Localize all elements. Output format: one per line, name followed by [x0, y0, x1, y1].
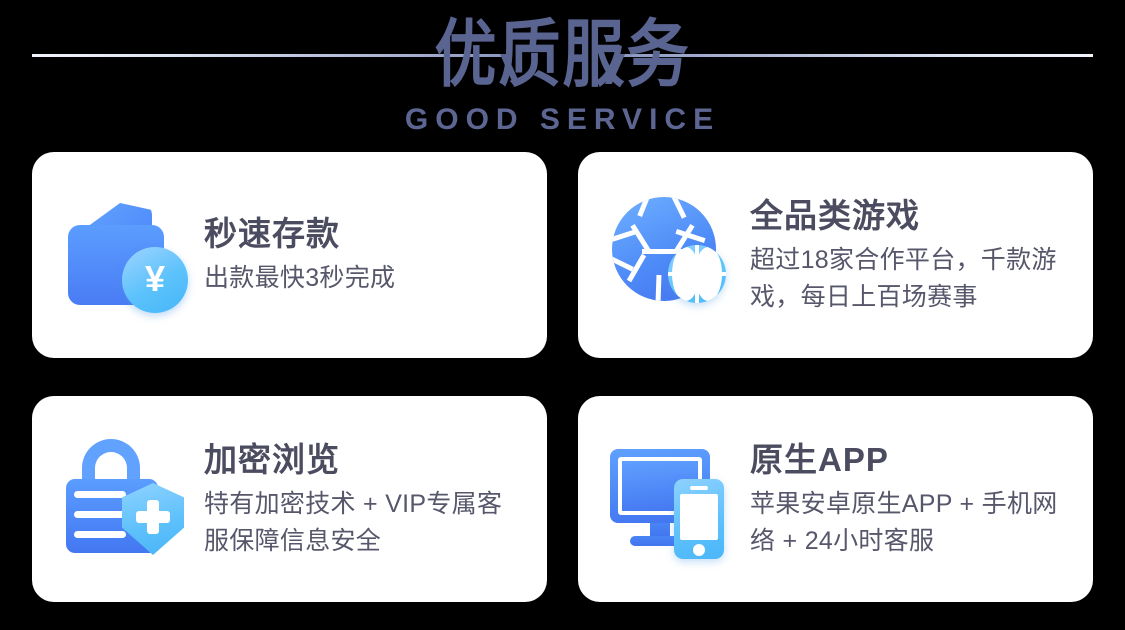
feature-card-native-app[interactable]: 原生APP 苹果安卓原生APP + 手机网络 + 24小时客服: [578, 396, 1093, 602]
feature-card-deposit[interactable]: ¥ 秒速存款 出款最快3秒完成: [32, 152, 547, 358]
smartphone-icon: [674, 479, 724, 559]
card-text-block: 原生APP 苹果安卓原生APP + 手机网络 + 24小时客服: [750, 439, 1071, 560]
feature-card-grid: ¥ 秒速存款 出款最快3秒完成: [32, 152, 1093, 602]
card-text-block: 秒速存款 出款最快3秒完成: [204, 213, 525, 297]
coin-currency-symbol: ¥: [145, 261, 165, 297]
card-title: 原生APP: [750, 439, 1071, 481]
yen-coin-icon: ¥: [122, 247, 188, 313]
monitor-phone-icon: [606, 433, 738, 565]
phone-speaker-icon: [690, 486, 708, 490]
card-description: 苹果安卓原生APP + 手机网络 + 24小时客服: [750, 486, 1071, 560]
feature-card-games[interactable]: 全品类游戏 超过18家合作平台，千款游戏，每日上百场赛事: [578, 152, 1093, 358]
wallet-icon: ¥: [60, 189, 192, 321]
card-description: 特有加密技术 + VIP专属客服保障信息安全: [204, 486, 525, 560]
lock-shield-icon: [60, 433, 192, 565]
monitor-stand-neck-icon: [650, 523, 670, 537]
card-text-block: 全品类游戏 超过18家合作平台，千款游戏，每日上百场赛事: [750, 195, 1071, 316]
soccer-basketball-icon: [606, 189, 738, 321]
card-title: 全品类游戏: [750, 195, 1071, 237]
card-description: 超过18家合作平台，千款游戏，每日上百场赛事: [750, 242, 1071, 316]
page-title: 优质服务: [434, 10, 690, 102]
card-title: 加密浏览: [204, 439, 525, 481]
phone-home-button-icon: [693, 544, 705, 556]
phone-screen-icon: [680, 494, 718, 540]
card-text-block: 加密浏览 特有加密技术 + VIP专属客服保障信息安全: [204, 439, 525, 560]
header-title-block: 优质服务 GOOD SERVICE: [0, 10, 1125, 136]
page-header: 优质服务 GOOD SERVICE: [0, 0, 1125, 146]
cross-horizontal-icon: [136, 511, 170, 523]
basketball-icon: [668, 245, 726, 303]
page-subtitle: GOOD SERVICE: [405, 104, 720, 136]
feature-card-encryption[interactable]: 加密浏览 特有加密技术 + VIP专属客服保障信息安全: [32, 396, 547, 602]
card-description: 出款最快3秒完成: [204, 260, 525, 297]
promo-page: 优质服务 GOOD SERVICE ¥ 秒速存款 出款最快3秒完成: [0, 0, 1125, 630]
card-title: 秒速存款: [204, 213, 525, 255]
